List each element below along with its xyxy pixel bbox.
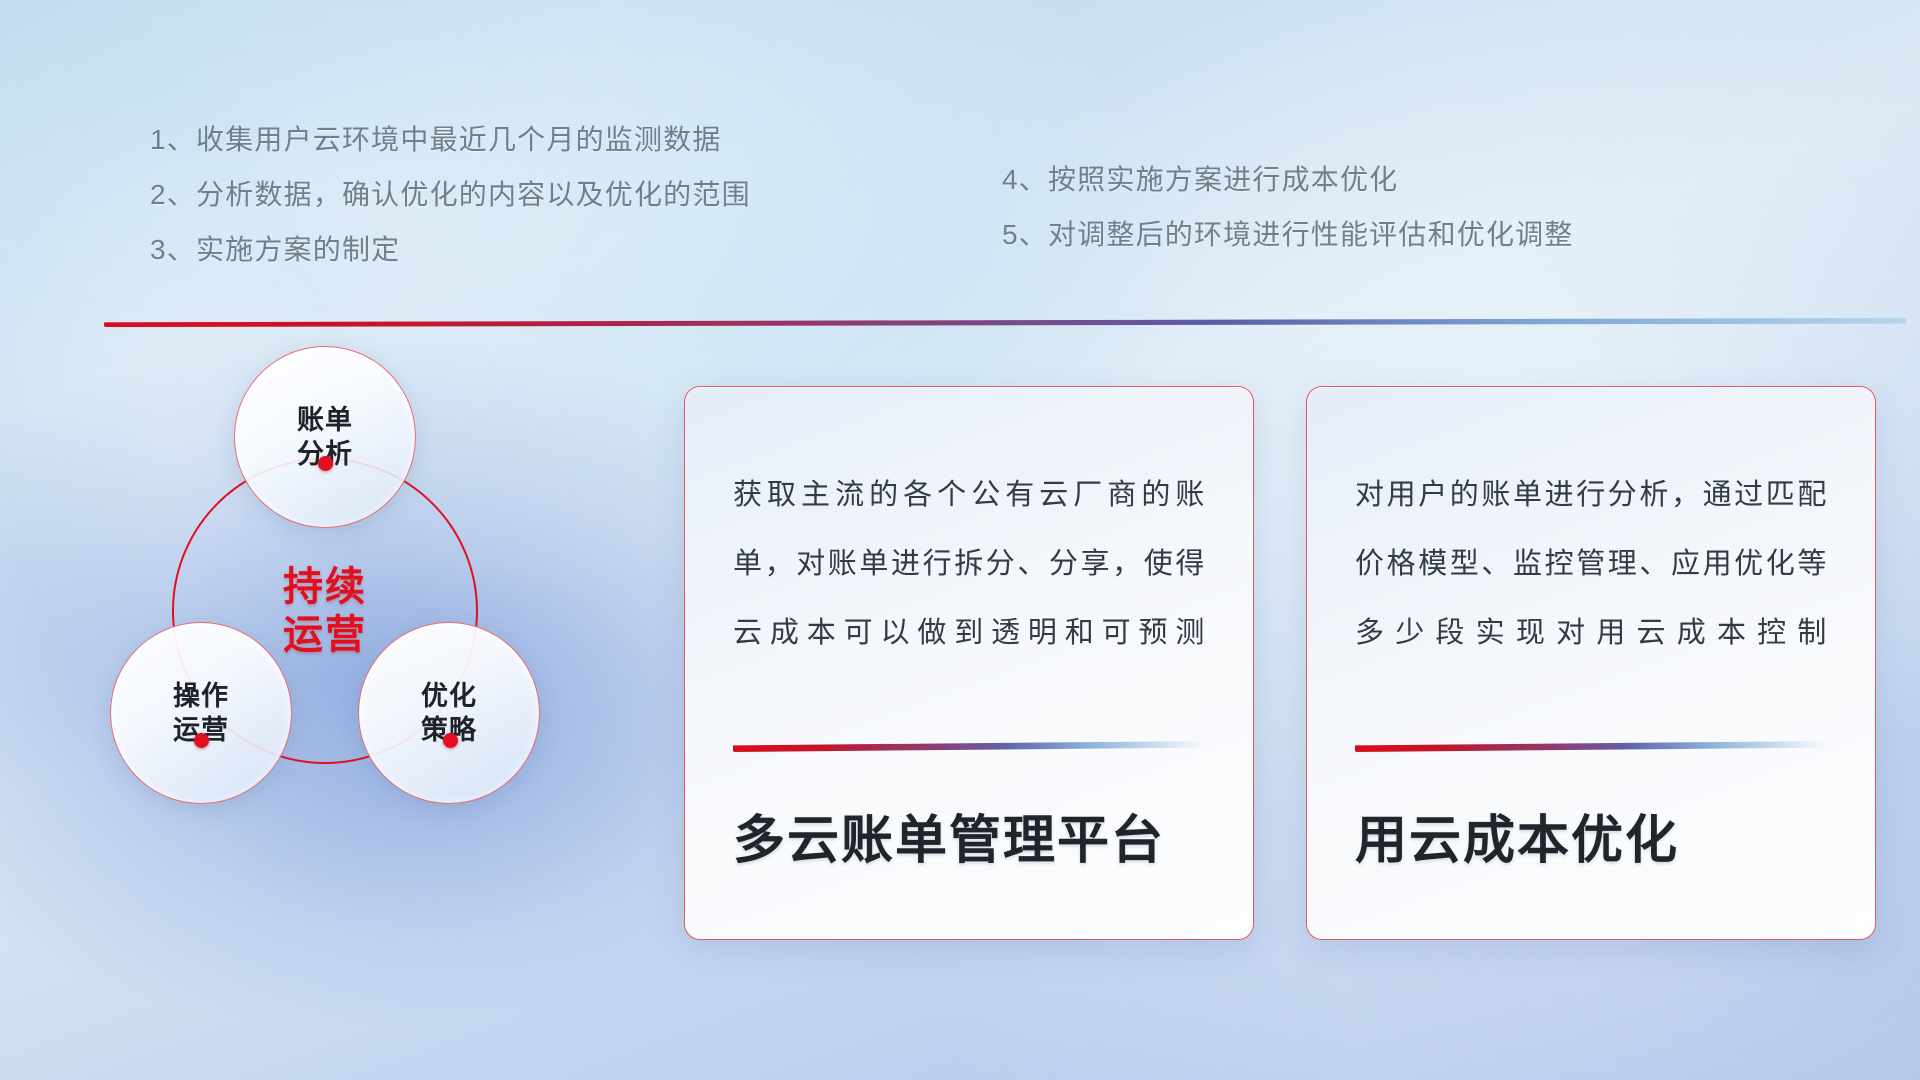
step-item-4: 4、按照实施方案进行成本优化 — [1002, 152, 1574, 207]
card-multicloud-billing-platform[interactable]: 获取主流的各个公有云厂商的账单，对账单进行拆分、分享，使得云成本可以做到透明和可… — [684, 386, 1254, 940]
card-accent-rule — [1355, 741, 1827, 752]
venn-center-line1: 持续 — [283, 563, 367, 611]
card-cloud-cost-optimization[interactable]: 对用户的账单进行分析，通过匹配价格模型、监控管理、应用优化等多少段实现对用云成本… — [1306, 386, 1876, 940]
venn-node-dot-right — [443, 733, 458, 748]
venn-node-dot-left — [194, 733, 209, 748]
feature-cards: 获取主流的各个公有云厂商的账单，对账单进行拆分、分享，使得云成本可以做到透明和可… — [684, 386, 1876, 940]
steps-column-right: 4、按照实施方案进行成本优化 5、对调整后的环境进行性能评估和优化调整 — [1002, 152, 1574, 262]
steps-section: 1、收集用户云环境中最近几个月的监测数据 2、分析数据，确认优化的内容以及优化的… — [0, 0, 1920, 300]
step-item-2: 2、分析数据，确认优化的内容以及优化的范围 — [150, 167, 751, 222]
venn-diagram: 账单 分析 操作 运营 优化 策略 持续 运营 — [96, 346, 566, 946]
step-item-3: 3、实施方案的制定 — [150, 222, 751, 277]
card-title: 用云成本优化 — [1355, 752, 1827, 939]
step-item-1: 1、收集用户云环境中最近几个月的监测数据 — [150, 112, 751, 167]
section-divider — [104, 318, 1906, 327]
steps-column-left: 1、收集用户云环境中最近几个月的监测数据 2、分析数据，确认优化的内容以及优化的… — [150, 112, 751, 277]
card-body-text: 对用户的账单进行分析，通过匹配价格模型、监控管理、应用优化等多少段实现对用云成本… — [1355, 461, 1827, 668]
venn-center-label: 持续 运营 — [172, 458, 478, 764]
venn-node-dot-top — [318, 456, 333, 471]
venn-center-line2: 运营 — [283, 611, 367, 659]
card-body-text: 获取主流的各个公有云厂商的账单，对账单进行拆分、分享，使得云成本可以做到透明和可… — [733, 461, 1205, 668]
card-accent-rule — [733, 741, 1205, 752]
card-title: 多云账单管理平台 — [733, 752, 1205, 939]
divider-bar — [104, 318, 1906, 327]
venn-label-top-line1: 账单 — [297, 403, 353, 437]
step-item-5: 5、对调整后的环境进行性能评估和优化调整 — [1002, 207, 1574, 262]
